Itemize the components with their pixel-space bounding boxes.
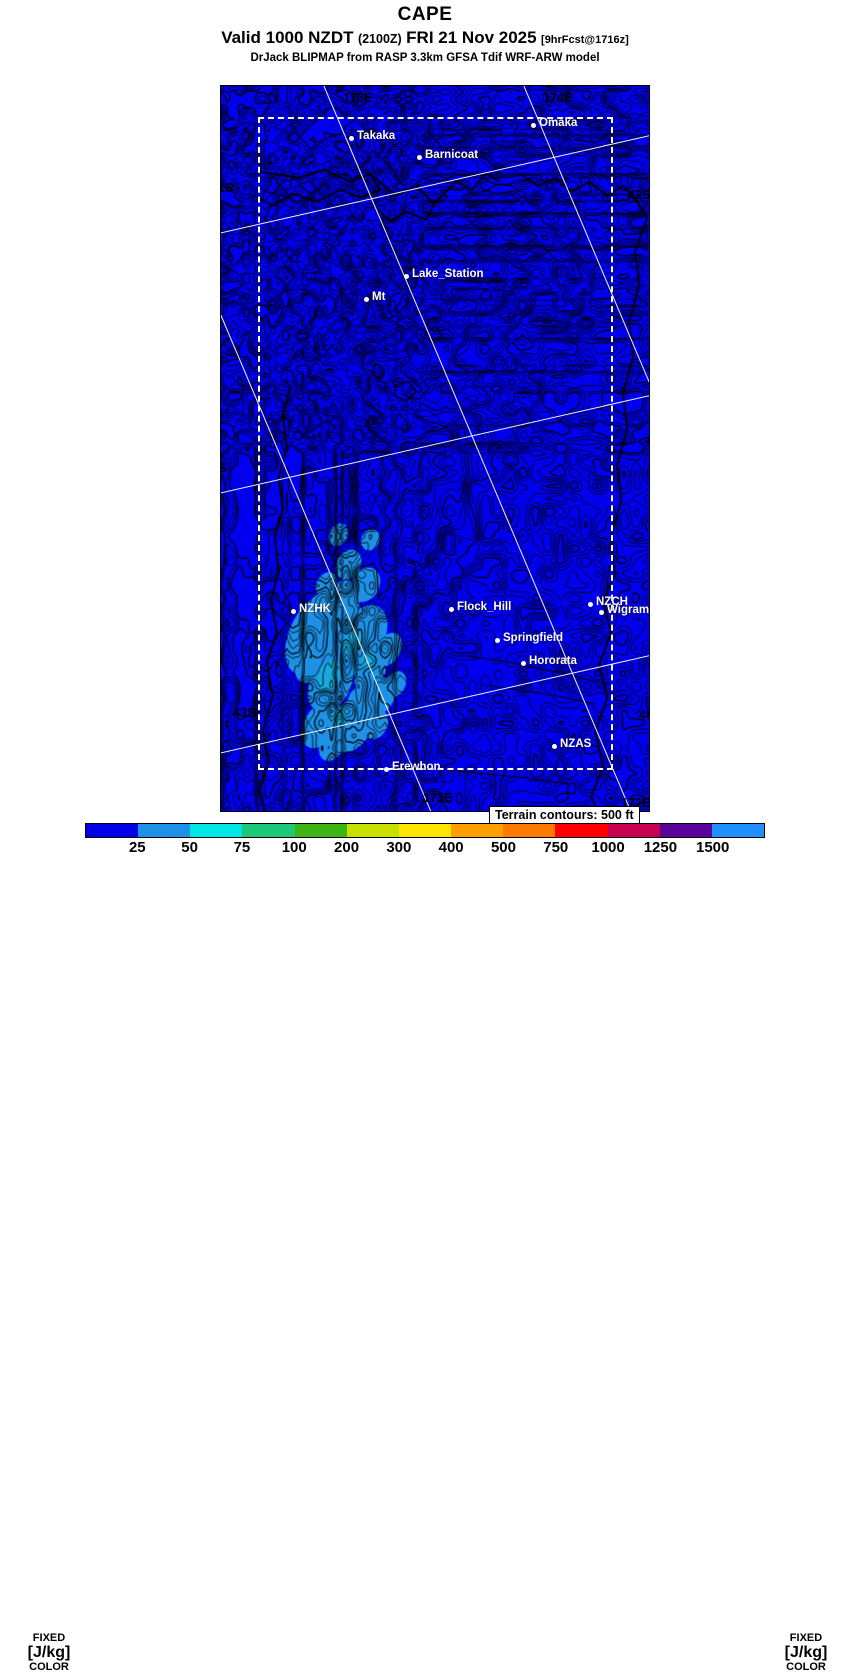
page-title: CAPE [0, 5, 850, 25]
station-marker[interactable] [521, 661, 526, 666]
colorbar-segment-7 [451, 824, 503, 837]
colorbar-tick-labels: 255075100200300400500750100012501500 [85, 839, 765, 859]
station-marker[interactable] [404, 274, 409, 279]
station-marker[interactable] [364, 297, 369, 302]
station-marker[interactable] [552, 744, 557, 749]
units-label-left: [J/kg] [18, 1644, 80, 1661]
colorbar-segment-5 [347, 824, 399, 837]
valid-time-line: Valid 1000 NZDT (2100Z) FRI 21 Nov 2025 … [0, 28, 850, 50]
forecast-tag: [9hrFcst@1716z] [541, 34, 629, 46]
station-marker[interactable] [599, 610, 604, 615]
station-marker[interactable] [495, 638, 500, 643]
colorbar-tick-300: 300 [386, 839, 411, 856]
station-label: Takaka [357, 130, 395, 142]
station-label: Lake_Station [412, 268, 484, 280]
colorbar-left-units: FIXED [J/kg] COLOR [18, 1632, 80, 1673]
station-label: Wigram [607, 604, 649, 616]
graticule-label: 44S [639, 708, 650, 722]
station-label: Springfield [503, 632, 563, 644]
station-label: Mt [372, 291, 385, 303]
valid-date: FRI 21 Nov 2025 [406, 28, 536, 47]
station-marker[interactable] [531, 123, 536, 128]
station-label: Erewhon [392, 761, 441, 773]
fixed-label-right: FIXED [775, 1632, 837, 1644]
colorbar-right-units: FIXED [J/kg] COLOR [775, 1632, 837, 1673]
station-label: Barnicoat [425, 149, 478, 161]
colorbar-segment-6 [399, 824, 451, 837]
colorbar-segment-8 [503, 824, 555, 837]
model-source-line: DrJack BLIPMAP from RASP 3.3km GFSA Tdif… [0, 52, 850, 65]
colorbar-tick-400: 400 [439, 839, 464, 856]
station-label: NZAS [560, 738, 591, 750]
graticule-label: 43S [233, 706, 255, 720]
color-label-right: COLOR [775, 1661, 837, 1673]
colorbar-tick-1500: 1500 [696, 839, 729, 856]
colorbar-tick-500: 500 [491, 839, 516, 856]
colorbar-tick-75: 75 [234, 839, 251, 856]
color-label-left: COLOR [18, 1661, 80, 1673]
colorbar-tick-1250: 1250 [644, 839, 677, 856]
station-label: Flock_Hill [457, 601, 511, 613]
fixed-label-left: FIXED [18, 1632, 80, 1644]
station-marker[interactable] [417, 155, 422, 160]
station-marker[interactable] [384, 767, 389, 772]
graticule-label: 174E [543, 91, 572, 105]
station-marker[interactable] [291, 609, 296, 614]
station-label: Omaka [539, 117, 577, 129]
colorbar-tick-750: 750 [543, 839, 568, 856]
colorbar-section: FIXED [J/kg] COLOR 255075100200300400500… [0, 820, 850, 860]
title-block: CAPE Valid 1000 NZDT (2100Z) FRI 21 Nov … [0, 0, 850, 65]
colorbar-tick-200: 200 [334, 839, 359, 856]
colorbar-segment-1 [138, 824, 190, 837]
station-label: Hororata [529, 655, 577, 667]
colorbar-segment-10 [608, 824, 660, 837]
graticule-label: 173E [343, 91, 372, 105]
colorbar-tick-1000: 1000 [591, 839, 624, 856]
colorbar-segment-3 [242, 824, 294, 837]
colorbar-segment-9 [555, 824, 607, 837]
colorbar-gradient[interactable] [85, 823, 765, 838]
colorbar-segment-12 [712, 824, 764, 837]
valid-time-text: Valid 1000 NZDT [221, 28, 353, 47]
colorbar-tick-50: 50 [181, 839, 198, 856]
graticule-label: 171E [423, 791, 452, 805]
colorbar-segment-2 [190, 824, 242, 837]
colorbar-segment-4 [295, 824, 347, 837]
valid-time-utc: (2100Z) [358, 32, 402, 46]
graticule-label: 41S [220, 181, 233, 195]
graticule-label: 43S [646, 434, 650, 448]
station-label: NZHK [299, 603, 331, 615]
graticule-label: 42S [220, 461, 226, 475]
colorbar-segment-0 [86, 824, 138, 837]
station-marker[interactable] [588, 602, 593, 607]
colorbar-tick-25: 25 [129, 839, 146, 856]
station-marker[interactable] [449, 607, 454, 612]
colorbar-tick-100: 100 [282, 839, 307, 856]
map-plot-area[interactable]: TakakaOmakaBarnicoatLake_StationMtNZHKFl… [220, 85, 650, 812]
units-label-right: [J/kg] [775, 1644, 837, 1661]
station-marker[interactable] [349, 136, 354, 141]
graticule-label: 42S [628, 188, 650, 202]
colorbar-segment-11 [660, 824, 712, 837]
